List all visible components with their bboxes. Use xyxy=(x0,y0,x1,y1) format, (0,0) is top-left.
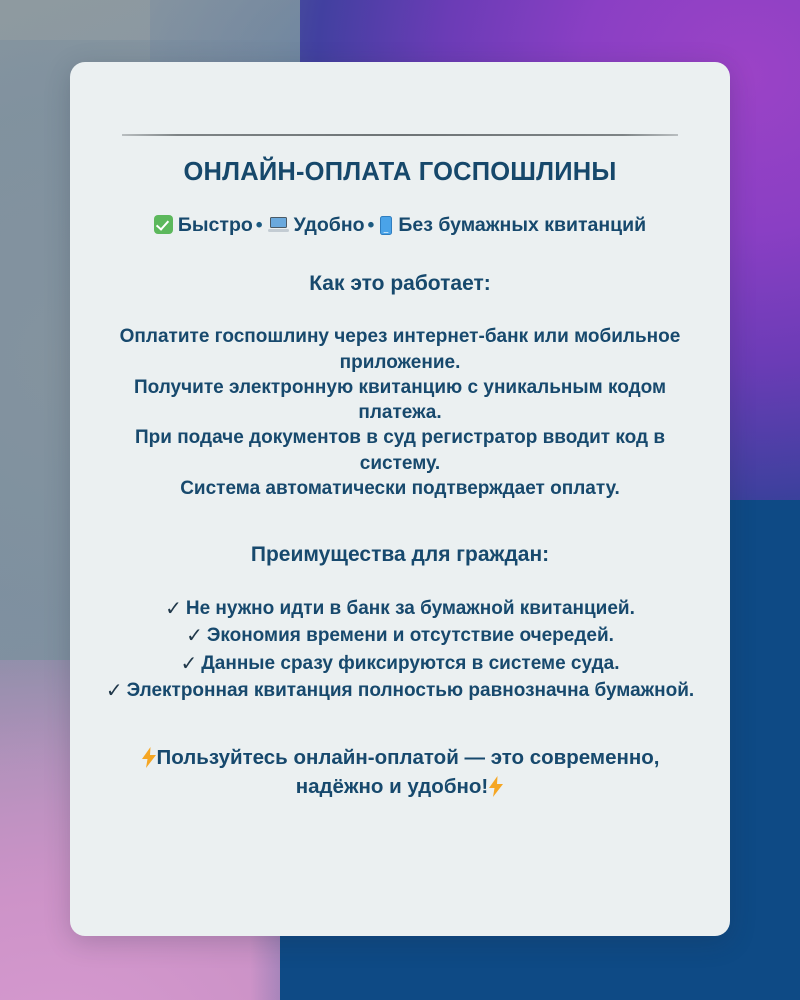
check-mark-icon: ✓ xyxy=(106,678,123,705)
check-mark-icon: ✓ xyxy=(186,623,203,650)
step-item: При подаче документов в суд регистратор … xyxy=(92,425,708,476)
check-mark-icon: ✓ xyxy=(180,651,197,678)
benefit-item: ✓Экономия времени и отсутствие очередей. xyxy=(92,622,708,649)
divider-rule xyxy=(122,134,678,136)
tagline-item-1: Быстро xyxy=(178,214,253,236)
tagline-row: Быстро•Удобно•Без бумажных квитанций xyxy=(92,213,708,238)
white-heavy-check-mark-icon xyxy=(154,215,173,234)
tagline-item-2: Удобно xyxy=(294,214,365,236)
benefit-text: Электронная квитанция полностью равнозна… xyxy=(127,680,695,701)
benefit-item: ✓Данные сразу фиксируются в системе суда… xyxy=(92,650,708,677)
closing-text: Пользуйтесь онлайн-оплатой — это совреме… xyxy=(157,746,660,798)
step-item: Оплатите госпошлину через интернет-банк … xyxy=(92,324,708,375)
step-item: Получите электронную квитанцию с уникаль… xyxy=(92,375,708,426)
tagline-separator-2: • xyxy=(365,214,378,236)
benefit-item: ✓Не нужно идти в банк за бумажной квитан… xyxy=(92,595,708,622)
benefit-text: Экономия времени и отсутствие очередей. xyxy=(207,625,614,646)
laptop-computer-icon xyxy=(268,217,289,233)
steps-list: Оплатите госпошлину через интернет-банк … xyxy=(92,324,708,501)
high-voltage-icon xyxy=(488,776,504,797)
benefit-item: ✓Электронная квитанция полностью равнозн… xyxy=(92,677,708,704)
benefit-text: Данные сразу фиксируются в системе суда. xyxy=(201,653,619,674)
closing-statement: Пользуйтесь онлайн-оплатой — это совреме… xyxy=(92,744,708,801)
poster-canvas: ОНЛАЙН-ОПЛАТА ГОСПОШЛИНЫ Быстро•Удобно•Б… xyxy=(0,0,800,1000)
tagline-item-3: Без бумажных квитанций xyxy=(398,214,646,236)
benefit-text: Не нужно идти в банк за бумажной квитанц… xyxy=(186,598,635,619)
info-card: ОНЛАЙН-ОПЛАТА ГОСПОШЛИНЫ Быстро•Удобно•Б… xyxy=(70,62,730,936)
tagline-separator-1: • xyxy=(253,214,266,236)
page-title: ОНЛАЙН-ОПЛАТА ГОСПОШЛИНЫ xyxy=(92,158,708,187)
check-mark-icon: ✓ xyxy=(165,596,182,623)
section-heading-benefits: Преимущества для граждан: xyxy=(92,543,708,567)
step-item: Система автоматически подтверждает оплат… xyxy=(92,476,708,501)
benefits-list: ✓Не нужно идти в банк за бумажной квитан… xyxy=(92,595,708,704)
mobile-phone-icon xyxy=(380,216,392,235)
high-voltage-icon xyxy=(141,747,157,768)
section-heading-how-it-works: Как это работает: xyxy=(92,272,708,296)
